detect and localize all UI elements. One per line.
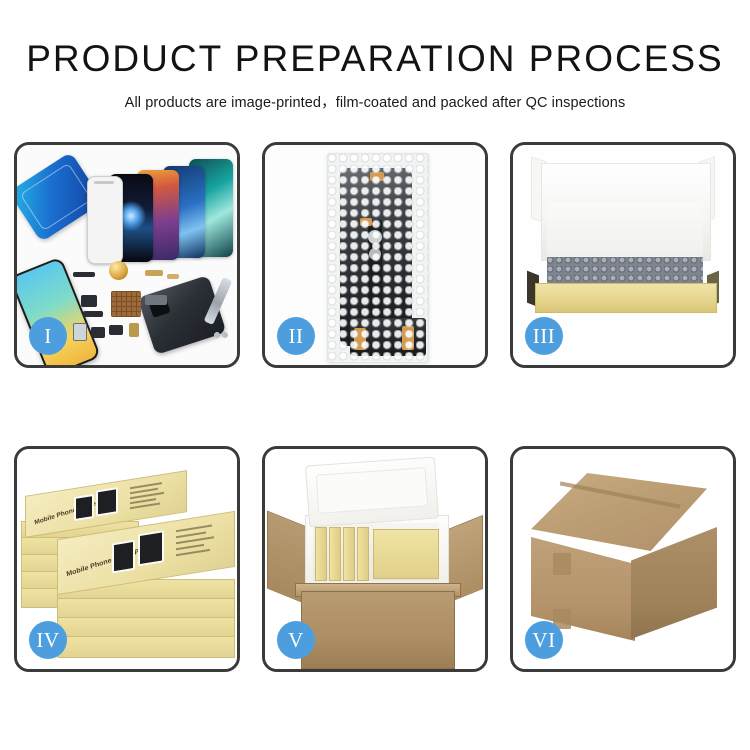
- gold-component-icon: [109, 261, 128, 280]
- box-text-line: [130, 502, 160, 508]
- part-gold-small: [167, 274, 179, 279]
- box-text-line: [176, 544, 204, 550]
- tape-left: [354, 328, 366, 350]
- yellow-box-edge: [343, 527, 355, 581]
- panel-foam-carton[interactable]: V: [262, 446, 488, 672]
- part-camera: [73, 323, 87, 341]
- page-subtitle: All products are image-printed，film-coat…: [0, 91, 750, 112]
- carton-body: [301, 591, 455, 669]
- badge-step: IV: [29, 621, 67, 659]
- yellow-box-face: [373, 529, 439, 579]
- badge-step: II: [277, 317, 315, 355]
- panel-stacked-boxes[interactable]: Mobile Phone Spare Parts Mobile Phone Sp…: [14, 446, 240, 672]
- box-phone-image: [138, 530, 164, 566]
- screws-icon: [213, 331, 229, 339]
- part-battery: [129, 323, 139, 337]
- panel-bubble-wrapped-part[interactable]: II: [262, 142, 488, 368]
- foam-sheet: [547, 203, 703, 261]
- foam-box-lid: [305, 457, 439, 528]
- part-connector: [145, 295, 167, 305]
- screen-protector: [87, 176, 123, 264]
- tape-mid: [360, 218, 372, 226]
- yellow-box-edge: [357, 527, 369, 581]
- badge-step: I: [29, 317, 67, 355]
- box-phone-image: [112, 540, 135, 574]
- box-phone-image: [96, 487, 118, 516]
- stack-box: [57, 617, 235, 638]
- bubble-wrap-bag: [327, 153, 429, 363]
- wrapped-display-part: [340, 168, 412, 346]
- yellow-box-edge: [329, 527, 341, 581]
- box-text-line: [176, 525, 212, 532]
- carton-tape-upper: [553, 553, 571, 575]
- part-gold-flex: [145, 270, 163, 276]
- badge-step: VI: [525, 621, 563, 659]
- chip-grid-icon: [111, 291, 141, 317]
- yellow-box-front: [535, 283, 717, 313]
- panel-open-inner-box[interactable]: III: [510, 142, 736, 368]
- tape-right: [402, 326, 414, 350]
- camera-hole: [368, 230, 382, 244]
- yellow-box-edge: [315, 527, 327, 581]
- yellow-boxes-inside: [315, 527, 439, 579]
- box-text-line: [176, 549, 210, 556]
- part-speaker: [91, 327, 105, 338]
- badge-step: III: [525, 317, 563, 355]
- process-grid: I II: [14, 142, 736, 734]
- connector-board: [350, 318, 426, 356]
- box-phone-image: [74, 494, 94, 521]
- tape-top: [370, 172, 384, 181]
- poster-root: PRODUCT PREPARATION PROCESS All products…: [0, 0, 750, 750]
- box-text-line: [176, 536, 214, 544]
- part-block-c: [109, 325, 123, 335]
- part-block-a: [81, 295, 97, 307]
- box-text-line: [176, 531, 206, 537]
- stack-box: [57, 636, 235, 658]
- part-block-b: [83, 311, 103, 317]
- panel-parts-and-screens[interactable]: I: [14, 142, 240, 368]
- sensor-hole: [369, 248, 381, 260]
- phone-fan-group: [63, 159, 233, 267]
- stack-box: [57, 598, 235, 619]
- flex-cable: [368, 220, 382, 340]
- panel-sealed-carton[interactable]: VI: [510, 446, 736, 672]
- part-strip: [73, 272, 95, 277]
- header: PRODUCT PREPARATION PROCESS All products…: [0, 0, 750, 112]
- badge-step: V: [277, 621, 315, 659]
- page-title: PRODUCT PREPARATION PROCESS: [0, 40, 750, 77]
